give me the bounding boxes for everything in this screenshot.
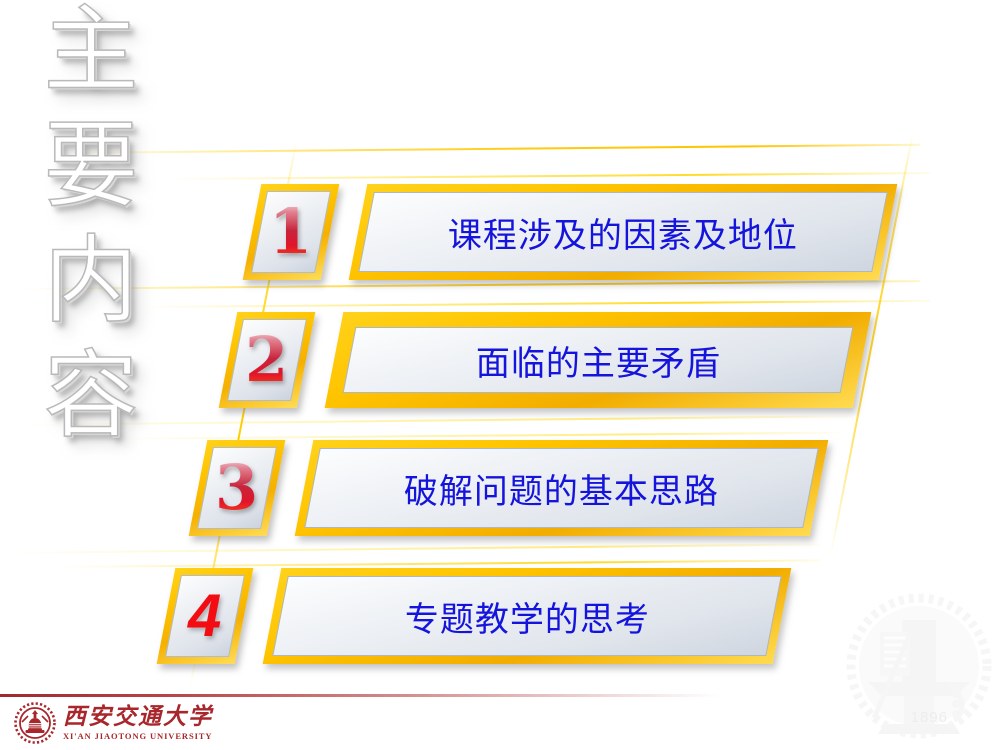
item-label-4: 专题教学的思考 [405, 592, 650, 641]
list-item-1[interactable]: 1 课程涉及的因素及地位 [252, 184, 888, 280]
item-label-3: 破解问题的基本思路 [404, 464, 719, 513]
item-number-badge-3: 3 [189, 440, 286, 536]
item-number-2: 2 [245, 329, 288, 391]
item-number-badge-1: 1 [243, 184, 340, 280]
list-item-4[interactable]: 4 专题教学的思考 [166, 568, 782, 664]
university-seal-icon [14, 702, 56, 744]
item-number-1: 1 [269, 201, 312, 263]
list-item-3[interactable]: 3 破解问题的基本思路 [198, 440, 819, 536]
item-title-plate-3[interactable]: 破解问题的基本思路 [295, 440, 829, 536]
item-number-badge-4: 4 [157, 568, 254, 664]
university-name-cn: 西安交通大学 [63, 705, 213, 729]
university-name-en: XI'AN JIAOTONG UNIVERSITY [63, 731, 213, 741]
slide-canvas: 主 要 内 容 1 课程涉及的因素及地位 2 [0, 0, 1000, 750]
item-number-3: 3 [215, 457, 258, 519]
item-label-2: 面临的主要矛盾 [476, 336, 721, 385]
item-label-1: 课程涉及的因素及地位 [448, 208, 798, 257]
item-title-plate-2[interactable]: 面临的主要矛盾 [325, 312, 872, 408]
university-logo: 西安交通大学 XI'AN JIAOTONG UNIVERSITY [14, 702, 213, 744]
item-number-4: 4 [188, 586, 221, 646]
content-list: 1 课程涉及的因素及地位 2 面临的主要矛盾 [0, 0, 1000, 750]
item-number-badge-2: 2 [219, 312, 316, 408]
list-item-2[interactable]: 2 面临的主要矛盾 [228, 312, 862, 408]
item-title-plate-4[interactable]: 专题教学的思考 [263, 568, 792, 664]
item-title-plate-1[interactable]: 课程涉及的因素及地位 [349, 184, 898, 280]
